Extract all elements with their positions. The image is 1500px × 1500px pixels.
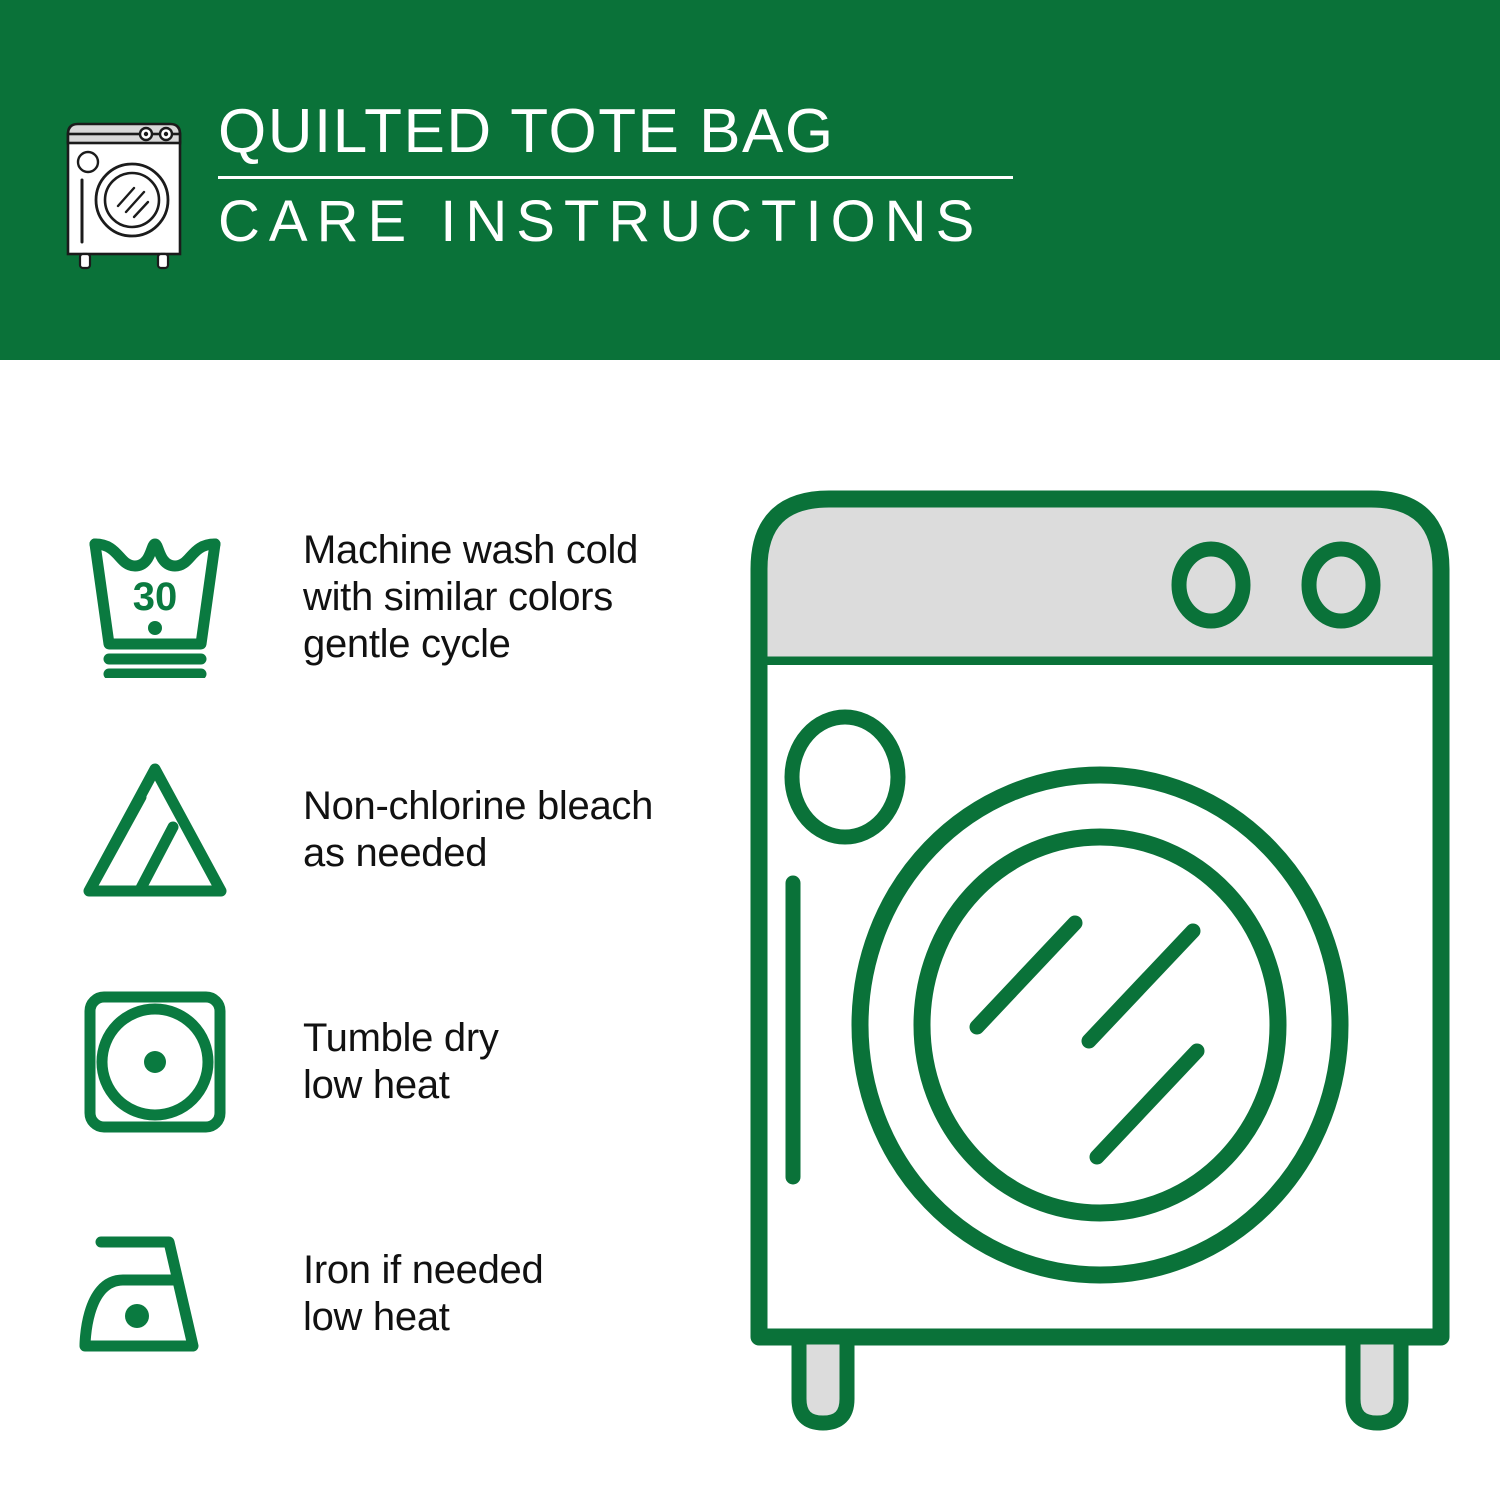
header-banner: QUILTED TOTE BAG CARE INSTRUCTIONS (0, 0, 1500, 360)
page-subtitle: CARE INSTRUCTIONS (218, 189, 1013, 255)
header-divider (218, 176, 1013, 179)
care-row-machine-wash: 30 Machine wash cold with similar colors… (75, 510, 695, 685)
care-label-line: Tumble dry (303, 1015, 499, 1062)
care-label-line: low heat (303, 1294, 543, 1341)
iron-low-heat-icon (75, 1224, 235, 1364)
care-label-line: with similar colors (303, 574, 638, 621)
care-label-tumble-dry: Tumble dry low heat (303, 1015, 499, 1109)
control-knob-right[interactable] (1309, 549, 1373, 621)
washing-machine-icon (62, 110, 192, 275)
content-area: 30 Machine wash cold with similar colors… (0, 360, 1500, 1500)
header-content: QUILTED TOTE BAG CARE INSTRUCTIONS (62, 96, 1013, 275)
care-label-line: Machine wash cold (303, 527, 638, 574)
care-row-bleach: Non-chlorine bleach as needed (75, 742, 695, 917)
care-label-machine-wash: Machine wash cold with similar colors ge… (303, 527, 638, 668)
care-label-line: Iron if needed (303, 1247, 543, 1294)
care-instruction-list: 30 Machine wash cold with similar colors… (75, 510, 695, 1381)
care-label-line: low heat (303, 1062, 499, 1109)
leg-right (1353, 1337, 1401, 1423)
control-knob-left[interactable] (1179, 549, 1243, 621)
tumble-dry-low-icon (75, 987, 235, 1137)
leg-left (799, 1337, 847, 1423)
header-text-block: QUILTED TOTE BAG CARE INSTRUCTIONS (218, 96, 1013, 255)
page-title: QUILTED TOTE BAG (218, 96, 1013, 168)
care-row-iron: Iron if needed low heat (75, 1206, 695, 1381)
washing-machine-illustration (745, 485, 1455, 1445)
care-label-line: as needed (303, 830, 653, 877)
detergent-dispenser-icon (792, 717, 898, 837)
care-label-line: gentle cycle (303, 621, 638, 668)
wash-temperature-value: 30 (133, 575, 178, 619)
non-chlorine-bleach-icon (75, 755, 235, 905)
care-label-iron: Iron if needed low heat (303, 1247, 543, 1341)
care-row-tumble-dry: Tumble dry low heat (75, 974, 695, 1149)
machine-wash-30-gentle-icon: 30 (75, 518, 235, 678)
care-label-line: Non-chlorine bleach (303, 783, 653, 830)
care-label-bleach: Non-chlorine bleach as needed (303, 783, 653, 877)
